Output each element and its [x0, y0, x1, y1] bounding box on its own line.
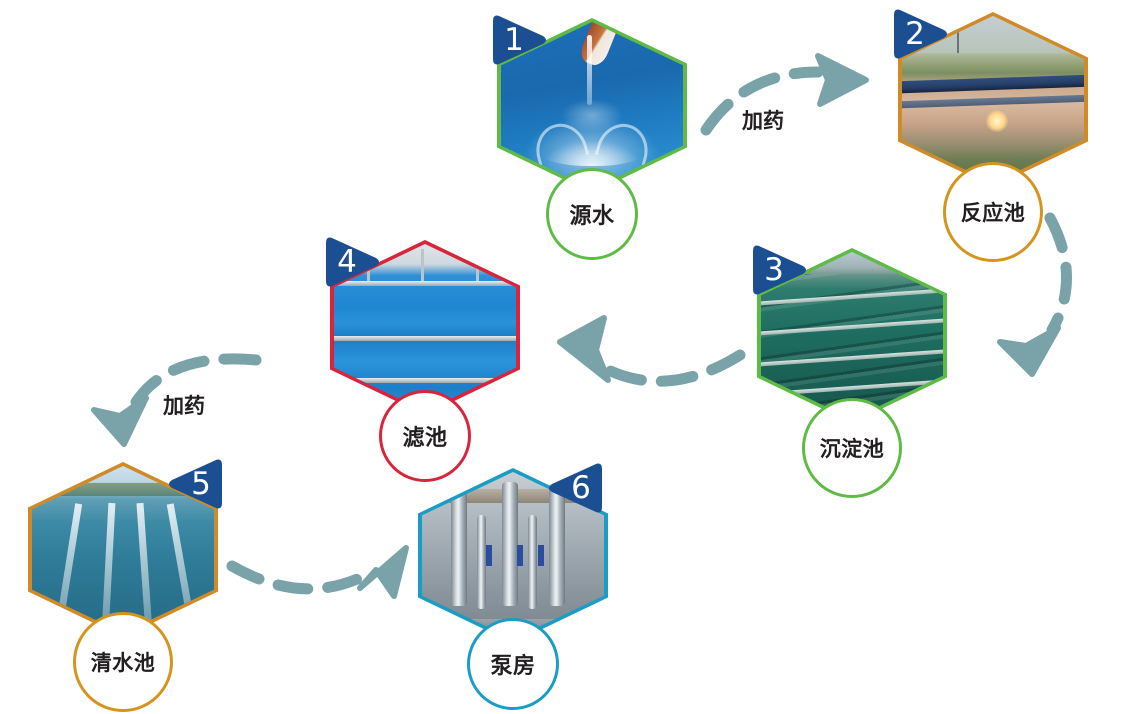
- process-flow-diagram: 加药 加药 1 源水: [0, 0, 1130, 714]
- arrow-1-to-2: [706, 56, 866, 130]
- node-5-label: 清水池: [91, 647, 156, 677]
- valve-marker-1: [486, 545, 492, 565]
- basin-rail-2: [761, 318, 943, 336]
- arrow-label-dosing-2: 加药: [163, 390, 205, 420]
- pump-pipe-3: [502, 482, 518, 606]
- arrow-3-to-4: [560, 318, 740, 381]
- node-5-caption: 清水池: [73, 612, 173, 712]
- node-1-label: 源水: [569, 198, 614, 230]
- process-node-2[interactable]: 2 反应池: [898, 12, 1088, 227]
- walkway-shape-2: [902, 94, 1084, 108]
- node-4-caption: 滤池: [379, 390, 471, 482]
- arrow-label-dosing-1: 加药: [742, 105, 784, 135]
- process-node-5[interactable]: 5 清水池: [28, 462, 218, 677]
- basin-rail-3: [761, 349, 943, 367]
- pump-pipe-2: [477, 515, 486, 609]
- splash-shape: [526, 109, 657, 166]
- process-node-6[interactable]: 6 泵房: [418, 468, 608, 683]
- node-2-number: 2: [885, 6, 945, 62]
- node-3-number: 3: [744, 242, 804, 298]
- node-3-label: 沉淀池: [820, 433, 885, 463]
- node-3-number-badge: 3: [751, 242, 811, 298]
- valve-marker-3: [538, 545, 544, 565]
- process-node-3[interactable]: 3 沉淀池: [757, 248, 947, 463]
- node-2-caption: 反应池: [943, 162, 1043, 262]
- arrow-5-to-6: [232, 548, 406, 596]
- node-5-number: 5: [171, 456, 231, 512]
- node-2-label: 反应池: [961, 197, 1026, 227]
- node-3-caption: 沉淀池: [802, 398, 902, 498]
- sun-reflection: [986, 110, 1008, 132]
- node-6-number: 6: [551, 460, 611, 516]
- node-1-number-badge: 1: [491, 12, 551, 68]
- node-4-label: 滤池: [402, 420, 447, 452]
- node-4-number: 4: [317, 234, 377, 290]
- valve-marker-2: [517, 545, 523, 565]
- node-2-number-badge: 2: [892, 6, 952, 62]
- tower-shape: [957, 19, 959, 52]
- basin-rail-4: [761, 379, 943, 397]
- node-6-label: 泵房: [490, 648, 535, 680]
- pump-pipe-4: [528, 515, 537, 609]
- process-node-1[interactable]: 1 源水: [497, 18, 687, 233]
- node-4-number-badge: 4: [324, 234, 384, 290]
- pump-pipe-1: [451, 482, 467, 606]
- water-lane-3: [137, 503, 153, 633]
- process-node-4[interactable]: 4 滤池: [330, 240, 520, 455]
- node-5-number-badge: 5: [164, 456, 224, 512]
- node-1-caption: 源水: [546, 168, 638, 260]
- walkway-shape: [902, 74, 1084, 93]
- node-1-number: 1: [484, 12, 544, 68]
- node-6-caption: 泵房: [467, 618, 559, 710]
- node-6-number-badge: 6: [544, 460, 604, 516]
- filter-beam-2: [334, 336, 516, 341]
